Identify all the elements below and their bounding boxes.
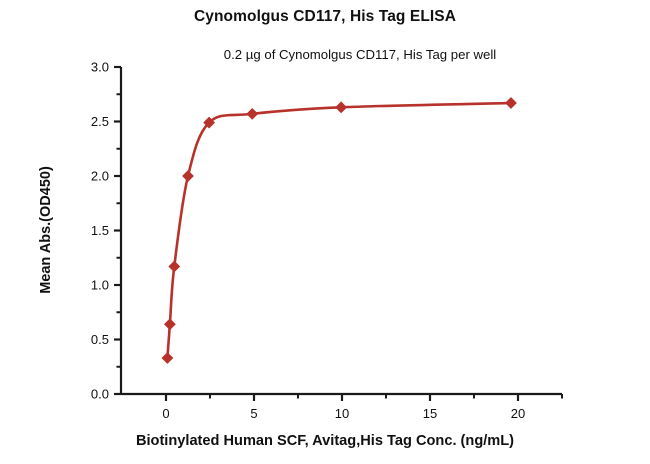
y-tick-label: 1.5 (91, 223, 109, 238)
y-tick-label: 2.5 (91, 114, 109, 129)
x-tick-label: 0 (162, 406, 169, 421)
data-series (162, 98, 516, 363)
y-tick-label: 1.0 (91, 278, 109, 293)
elisa-chart-figure: Cynomolgus CD117, His Tag ELISA 0.2 µg o… (0, 0, 650, 464)
plot-area: 0.00.51.01.52.02.53.0 05101520 (0, 0, 650, 464)
x-tick-label: 5 (250, 406, 257, 421)
x-axis: 05101520 (121, 394, 562, 421)
data-point-marker (506, 98, 516, 108)
x-tick-label: 15 (423, 406, 437, 421)
y-axis: 0.00.51.01.52.02.53.0 (91, 60, 121, 402)
y-tick-label: 2.0 (91, 169, 109, 184)
y-tick-label: 0.0 (91, 387, 109, 402)
x-tick-label: 20 (511, 406, 525, 421)
series-line (167, 103, 511, 358)
data-point-marker (169, 261, 179, 271)
data-point-marker (183, 171, 193, 181)
y-tick-label: 0.5 (91, 332, 109, 347)
data-point-marker (162, 353, 172, 363)
y-tick-label: 3.0 (91, 60, 109, 75)
data-point-marker (165, 319, 175, 329)
x-tick-label: 10 (335, 406, 349, 421)
data-point-marker (336, 102, 346, 112)
data-point-marker (247, 109, 257, 119)
